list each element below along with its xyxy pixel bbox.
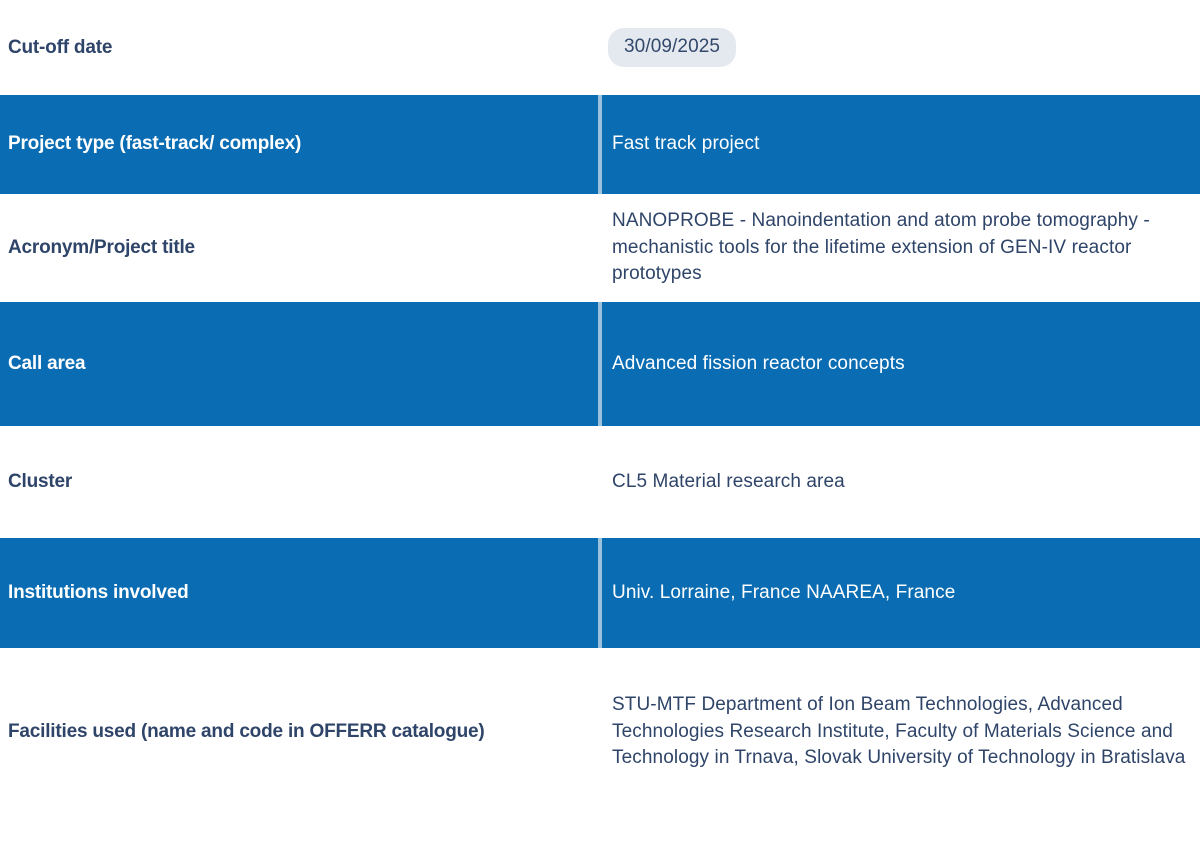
row-label-cluster: Cluster — [0, 426, 598, 538]
table-row: Project type (fast-track/ complex) Fast … — [0, 95, 1200, 194]
table-row: Cluster CL5 Material research area — [0, 426, 1200, 538]
row-value-acronym-project-title: NANOPROBE - Nanoindentation and atom pro… — [602, 194, 1200, 302]
row-value-facilities-used: STU-MTF Department of Ion Beam Technolog… — [602, 648, 1200, 816]
row-label-institutions-involved: Institutions involved — [0, 538, 598, 648]
cut-off-date-label: Cut-off date — [0, 37, 600, 59]
row-label-project-type: Project type (fast-track/ complex) — [0, 95, 598, 194]
row-value-call-area: Advanced fission reactor concepts — [602, 302, 1200, 426]
row-label-call-area: Call area — [0, 302, 598, 426]
project-summary-page: Cut-off date 30/09/2025 Project type (fa… — [0, 0, 1200, 856]
row-label-acronym-project-title: Acronym/Project title — [0, 194, 598, 302]
cut-off-date-badge: 30/09/2025 — [608, 28, 736, 67]
cut-off-date-row: Cut-off date 30/09/2025 — [0, 0, 1200, 95]
project-details-table: Project type (fast-track/ complex) Fast … — [0, 95, 1200, 816]
cut-off-date-value-wrap: 30/09/2025 — [600, 28, 1200, 67]
table-row: Institutions involved Univ. Lorraine, Fr… — [0, 538, 1200, 648]
row-label-facilities-used: Facilities used (name and code in OFFERR… — [0, 648, 598, 816]
table-row: Facilities used (name and code in OFFERR… — [0, 648, 1200, 816]
table-row: Acronym/Project title NANOPROBE - Nanoin… — [0, 194, 1200, 302]
table-row: Call area Advanced fission reactor conce… — [0, 302, 1200, 426]
row-value-institutions-involved: Univ. Lorraine, France NAAREA, France — [602, 538, 1200, 648]
row-value-cluster: CL5 Material research area — [602, 426, 1200, 538]
row-value-project-type: Fast track project — [602, 95, 1200, 194]
